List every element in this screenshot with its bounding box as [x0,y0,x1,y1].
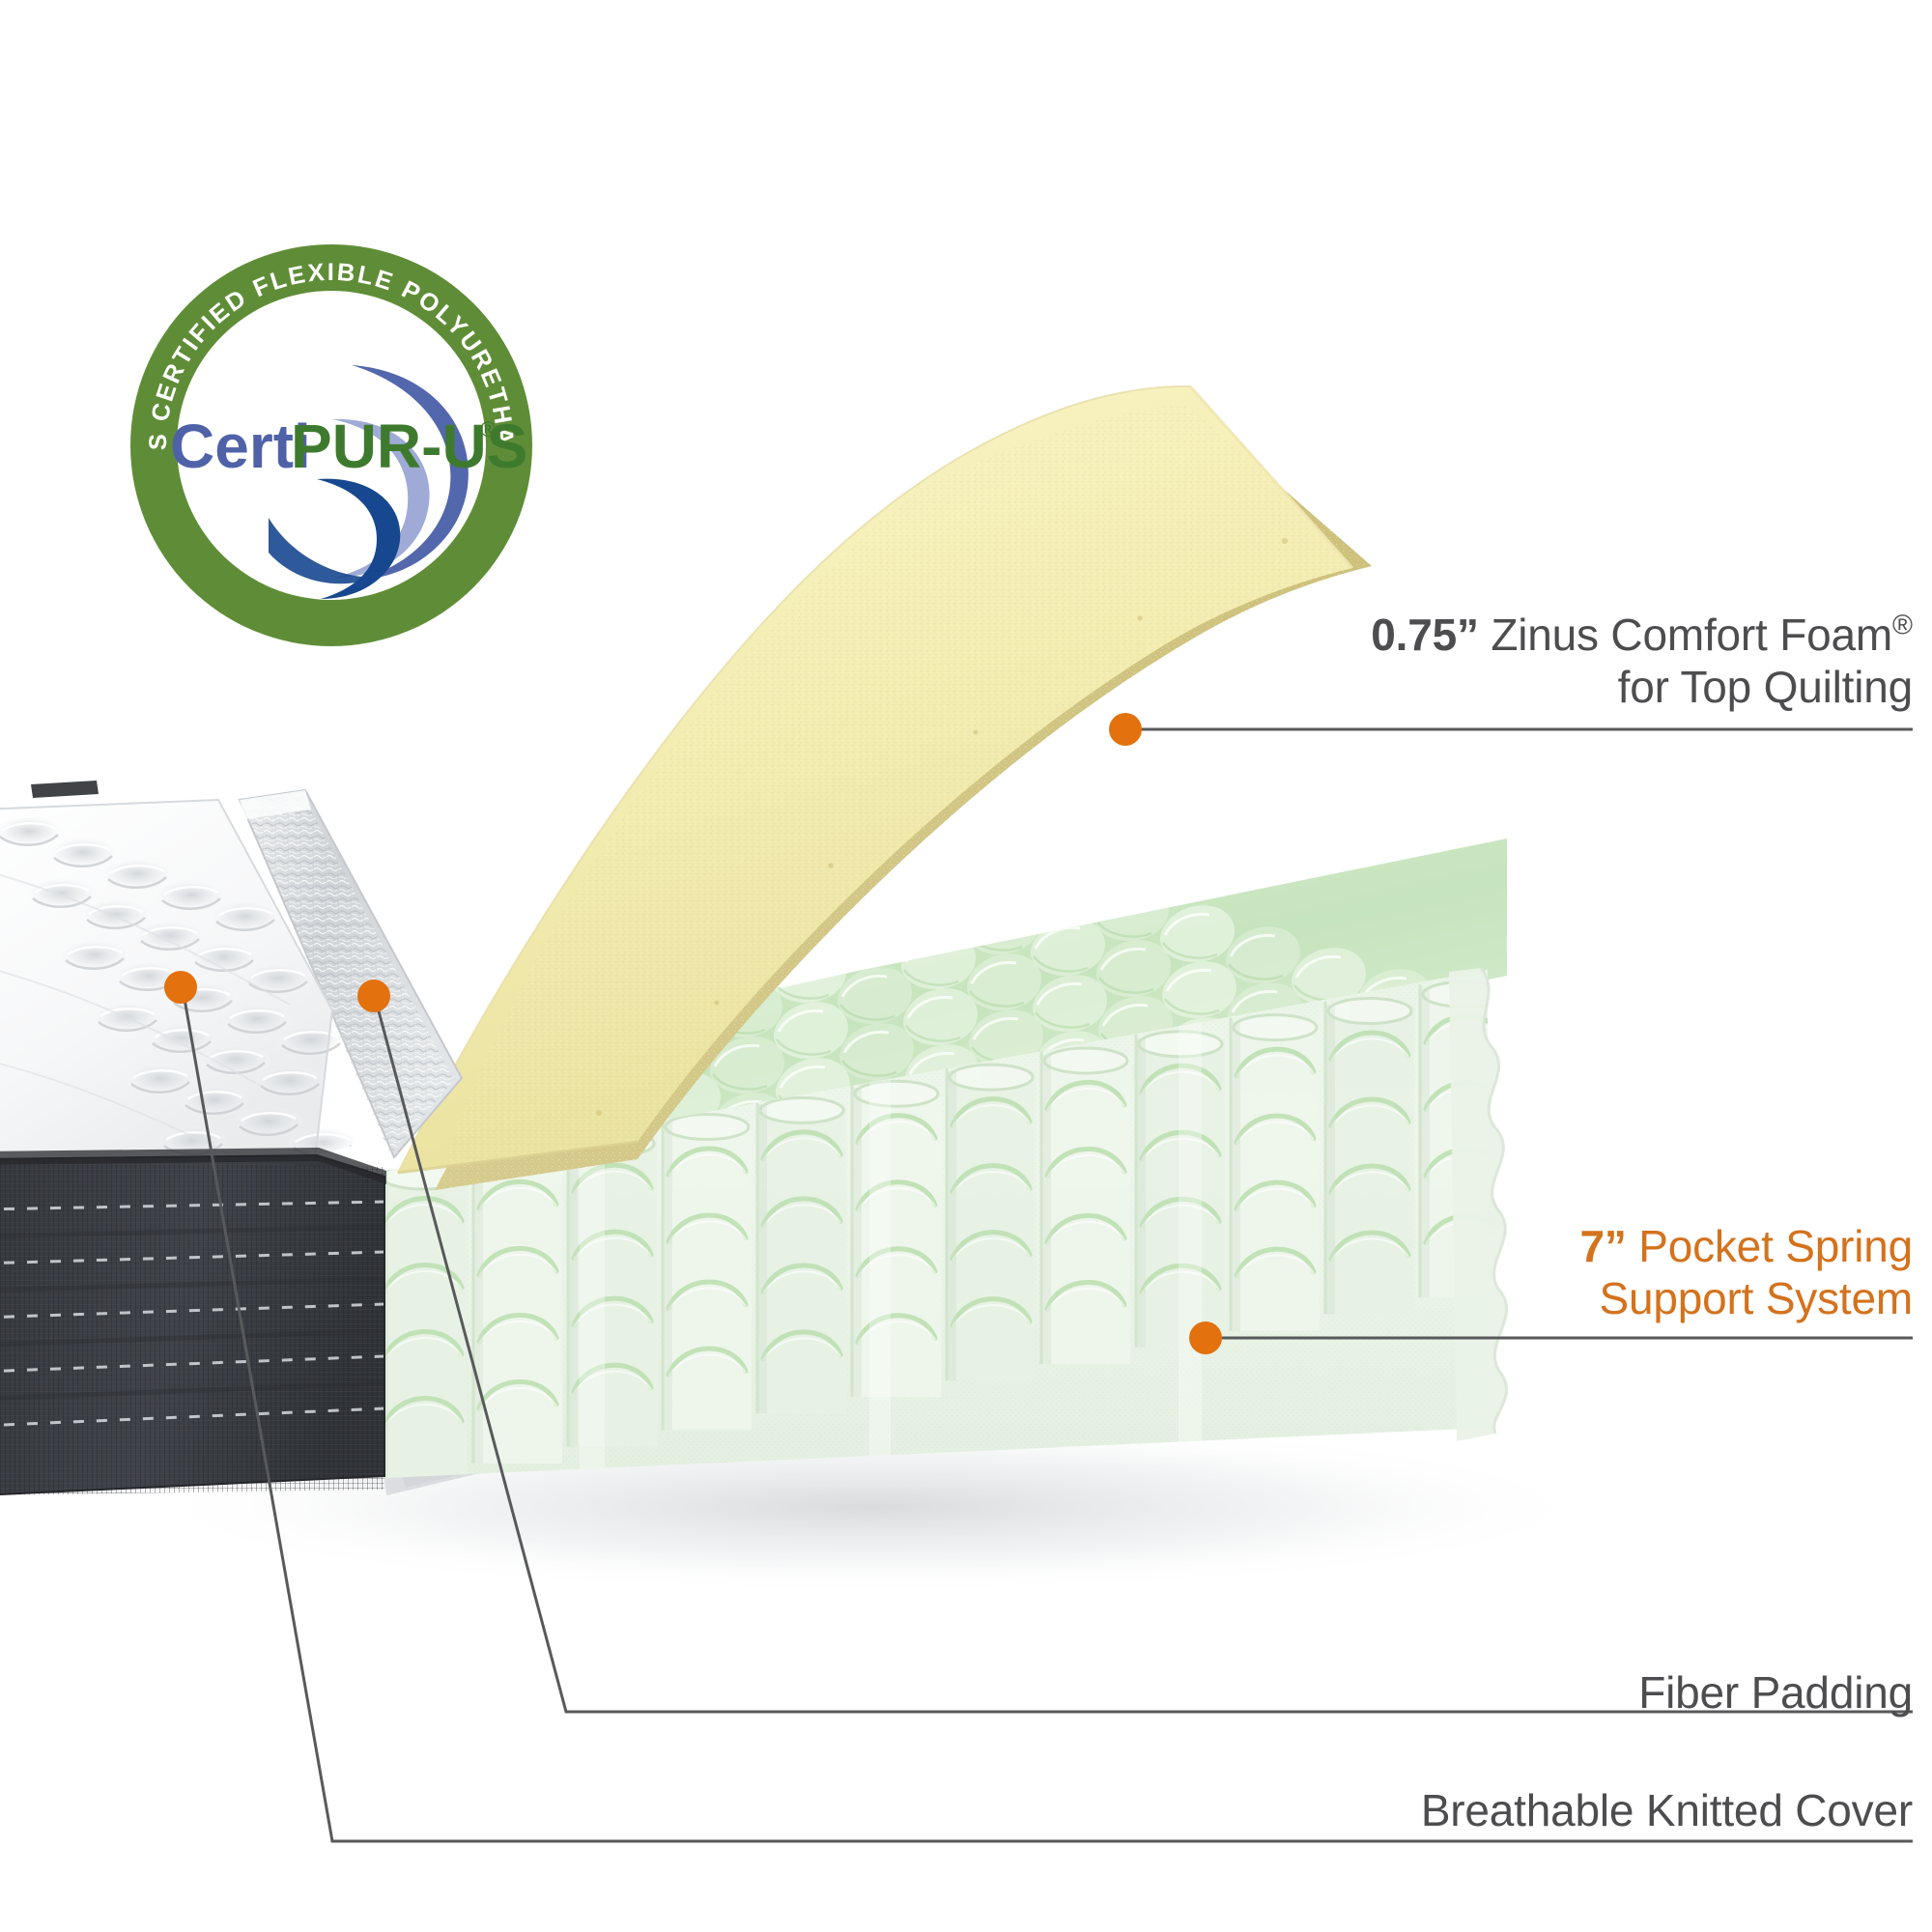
registered-mark-icon: ® [1892,611,1913,641]
callout-fiber-padding-text: Fiber Padding [1063,1666,1913,1719]
certipur-us-badge: CONTAINS CERTIFIED FLEXIBLE POLYURETHANE… [124,238,539,653]
side-panel [0,1148,406,1507]
top-edge-tape [31,781,99,798]
badge-wordmark-certi: Certi [170,412,311,481]
callout-fiber-padding: Fiber Padding [1063,1666,1913,1719]
dot-pocket-spring [1189,1321,1222,1354]
badge-wordmark-registered: ® [480,417,496,441]
callout-comfort-foam-line2: for Top Quilting [1014,661,1913,713]
callout-pocket-spring-text: Pocket Spring [1627,1221,1913,1271]
callout-knitted-cover-text: Breathable Knitted Cover [966,1784,1913,1836]
badge-wordmark: Certi PUR-US ® [170,412,527,481]
dot-knitted-cover [164,971,197,1004]
callout-pocket-spring-line2: Support System [1063,1272,1913,1324]
callout-comfort-foam-text: Zinus Comfort Foam [1479,610,1892,660]
callout-pocket-spring: 7” Pocket Spring Support System [1063,1220,1913,1325]
callout-pocket-spring-measure: 7” [1579,1221,1626,1271]
callout-knitted-cover: Breathable Knitted Cover [966,1784,1913,1836]
callout-comfort-foam-line1: 0.75” Zinus Comfort Foam® [1014,609,1913,661]
callout-comfort-foam-measure: 0.75” [1371,610,1479,660]
callout-pocket-spring-line1: 7” Pocket Spring [1063,1220,1913,1272]
dot-comfort-foam [1109,713,1142,746]
mattress-diagram: CONTAINS CERTIFIED FLEXIBLE POLYURETHANE… [0,0,1932,1932]
callout-comfort-foam: 0.75” Zinus Comfort Foam® for Top Quilti… [1014,609,1913,714]
dot-fiber-padding [357,980,390,1012]
